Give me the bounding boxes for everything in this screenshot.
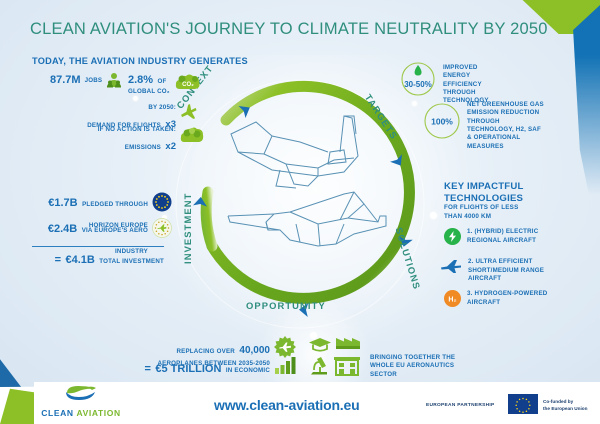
people-icon bbox=[106, 72, 122, 88]
cofunded-line-2: the European Union bbox=[543, 406, 588, 412]
opportunity-total-value: €5 TRILLION bbox=[155, 363, 221, 375]
logo-word-clean: CLEAN bbox=[41, 408, 73, 418]
jobs-value: 87.7M bbox=[50, 74, 81, 86]
investment-divider bbox=[32, 246, 164, 247]
logo-word-aviation: AVIATION bbox=[77, 408, 121, 418]
emissions-cloud-icon bbox=[180, 127, 204, 145]
svg-text:H₂: H₂ bbox=[448, 297, 456, 304]
noaction-text: EMISSIONS bbox=[125, 144, 161, 151]
cofunded-text: Co-funded by the European Union bbox=[543, 399, 588, 412]
airplane-icon bbox=[180, 104, 198, 122]
growth-bars-icon bbox=[274, 356, 296, 374]
investment-total-value: €4.1B bbox=[65, 254, 94, 266]
by2050-label: BY 2050: bbox=[58, 104, 176, 112]
investment-total: = €4.1B TOTAL INVESTMENT bbox=[20, 250, 164, 268]
target-text-2: NET GREENHOUSE GAS EMISSION REDUCTION TH… bbox=[467, 101, 547, 151]
target-badge-2: 100% bbox=[420, 101, 464, 141]
opportunity-total-prefix: = bbox=[145, 363, 151, 375]
noaction-multiplier: x2 bbox=[165, 141, 176, 152]
infographic-canvas: CLEAN AVIATION'S JOURNEY TO CLIMATE NEUT… bbox=[0, 0, 600, 424]
aircraft-icon bbox=[440, 258, 462, 275]
graduation-cap-icon bbox=[309, 338, 331, 351]
co2-value: 2.8% bbox=[128, 74, 153, 86]
decorative-dot bbox=[133, 96, 138, 101]
stat-jobs: 87.7M JOBS bbox=[50, 72, 122, 88]
investment-item-1-value: €1.7B bbox=[48, 197, 77, 209]
stat-no-action: IF NO ACTION IS TAKEN: EMISSIONS x2 bbox=[58, 126, 176, 156]
investment-total-prefix: = bbox=[55, 254, 61, 266]
aeronautics-sector-icons bbox=[308, 334, 370, 378]
target-badge-1-value: 30-50% bbox=[404, 80, 432, 89]
technology-item-3: H₂ 3. HYDROGEN-POWERED AIRCRAFT bbox=[444, 290, 555, 307]
opportunity-line1-pre: REPLACING OVER bbox=[176, 348, 235, 355]
technology-item-1-label: 1. (HYBRID) ELECTRIC REGIONAL AIRCRAFT bbox=[467, 228, 555, 245]
technology-item-2: 2. ULTRA EFFICIENT SHORT/MEDIUM RANGE AI… bbox=[440, 258, 556, 284]
eu-aero-industry-icon bbox=[152, 218, 172, 238]
wheel-label-investment: INVESTMENT bbox=[182, 193, 193, 264]
aeroplane-rosette-icon bbox=[274, 336, 296, 358]
h2-icon: H₂ bbox=[444, 290, 461, 307]
eu-flag-icon bbox=[152, 192, 172, 212]
investment-item-2-value: €2.4B bbox=[48, 223, 77, 235]
european-partnership-label: EUROPEAN PARTNERSHIP bbox=[426, 403, 495, 408]
co2-cloud-icon: CO₂ bbox=[175, 73, 201, 93]
noaction-label: IF NO ACTION IS TAKEN: bbox=[58, 126, 176, 134]
co2-of: OF bbox=[158, 78, 167, 85]
technology-item-2-label: 2. ULTRA EFFICIENT SHORT/MEDIUM RANGE AI… bbox=[468, 258, 556, 284]
co2-label: GLOBAL CO₂ bbox=[128, 88, 170, 95]
factory-icon bbox=[336, 338, 360, 349]
clean-aviation-mark-icon bbox=[64, 384, 98, 402]
target-badge-2-value: 100% bbox=[431, 117, 453, 127]
jobs-unit: JOBS bbox=[85, 77, 103, 84]
technology-item-3-label: 3. HYDROGEN-POWERED AIRCRAFT bbox=[467, 290, 555, 307]
target-badge-1: 30-50% bbox=[396, 62, 440, 96]
eu-flag-footer-icon bbox=[508, 394, 538, 414]
building-icon bbox=[334, 357, 360, 375]
website-url[interactable]: www.clean-aviation.eu bbox=[214, 397, 359, 413]
bolt-icon bbox=[444, 228, 461, 245]
technology-item-1: 1. (HYBRID) ELECTRIC REGIONAL AIRCRAFT bbox=[444, 228, 555, 245]
opportunity-line1-value: 40,000 bbox=[239, 345, 270, 356]
page-title: CLEAN AVIATION'S JOURNEY TO CLIMATE NEUT… bbox=[30, 20, 548, 39]
clean-aviation-logo[interactable]: CLEAN AVIATION bbox=[36, 384, 126, 418]
key-technologies-subheading: FOR FLIGHTS OF LESS THAN 4000 KM bbox=[444, 204, 534, 221]
investment-total-text: TOTAL INVESTMENT bbox=[99, 258, 164, 265]
sector-text: BRINGING TOGETHER THE WHOLE EU AERONAUTI… bbox=[370, 354, 478, 379]
svg-text:CO₂: CO₂ bbox=[182, 82, 194, 88]
wheel-label-opportunity: OPPORTUNITY bbox=[246, 300, 326, 311]
today-heading: TODAY, THE AVIATION INDUSTRY GENERATES bbox=[32, 56, 248, 66]
microscope-icon bbox=[311, 357, 327, 375]
key-technologies-heading: KEY IMPACTFUL TECHNOLOGIES bbox=[444, 181, 534, 205]
corner-decoration-blue-right bbox=[544, 0, 600, 250]
target-text-1: IMPROVED ENERGY EFFICIENCY THROUGH TECHN… bbox=[443, 64, 505, 106]
stat-co2: 2.8% OF GLOBAL CO₂ CO₂ bbox=[128, 70, 201, 96]
journey-wheel bbox=[168, 72, 432, 336]
